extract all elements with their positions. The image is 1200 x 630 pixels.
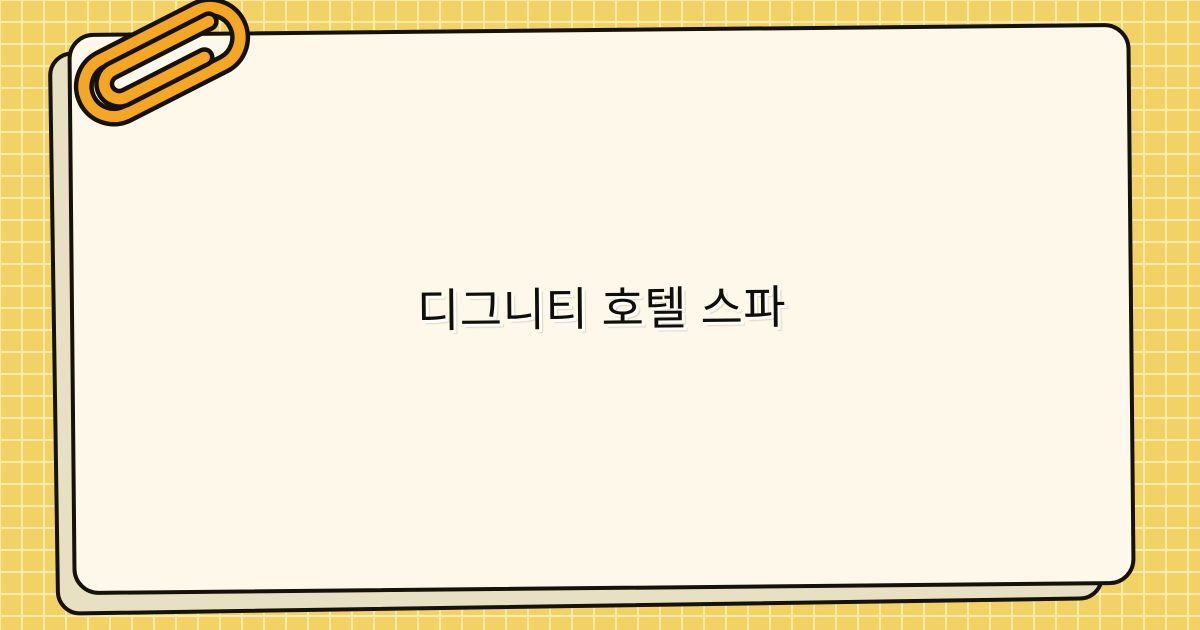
note-card-graphic: 디그니티 호텔 스파 xyxy=(0,0,1200,630)
card-title: 디그니티 호텔 스파 xyxy=(134,275,1070,343)
paperclip-icon xyxy=(62,2,262,122)
card-content: 디그니티 호텔 스파 xyxy=(74,275,1130,344)
